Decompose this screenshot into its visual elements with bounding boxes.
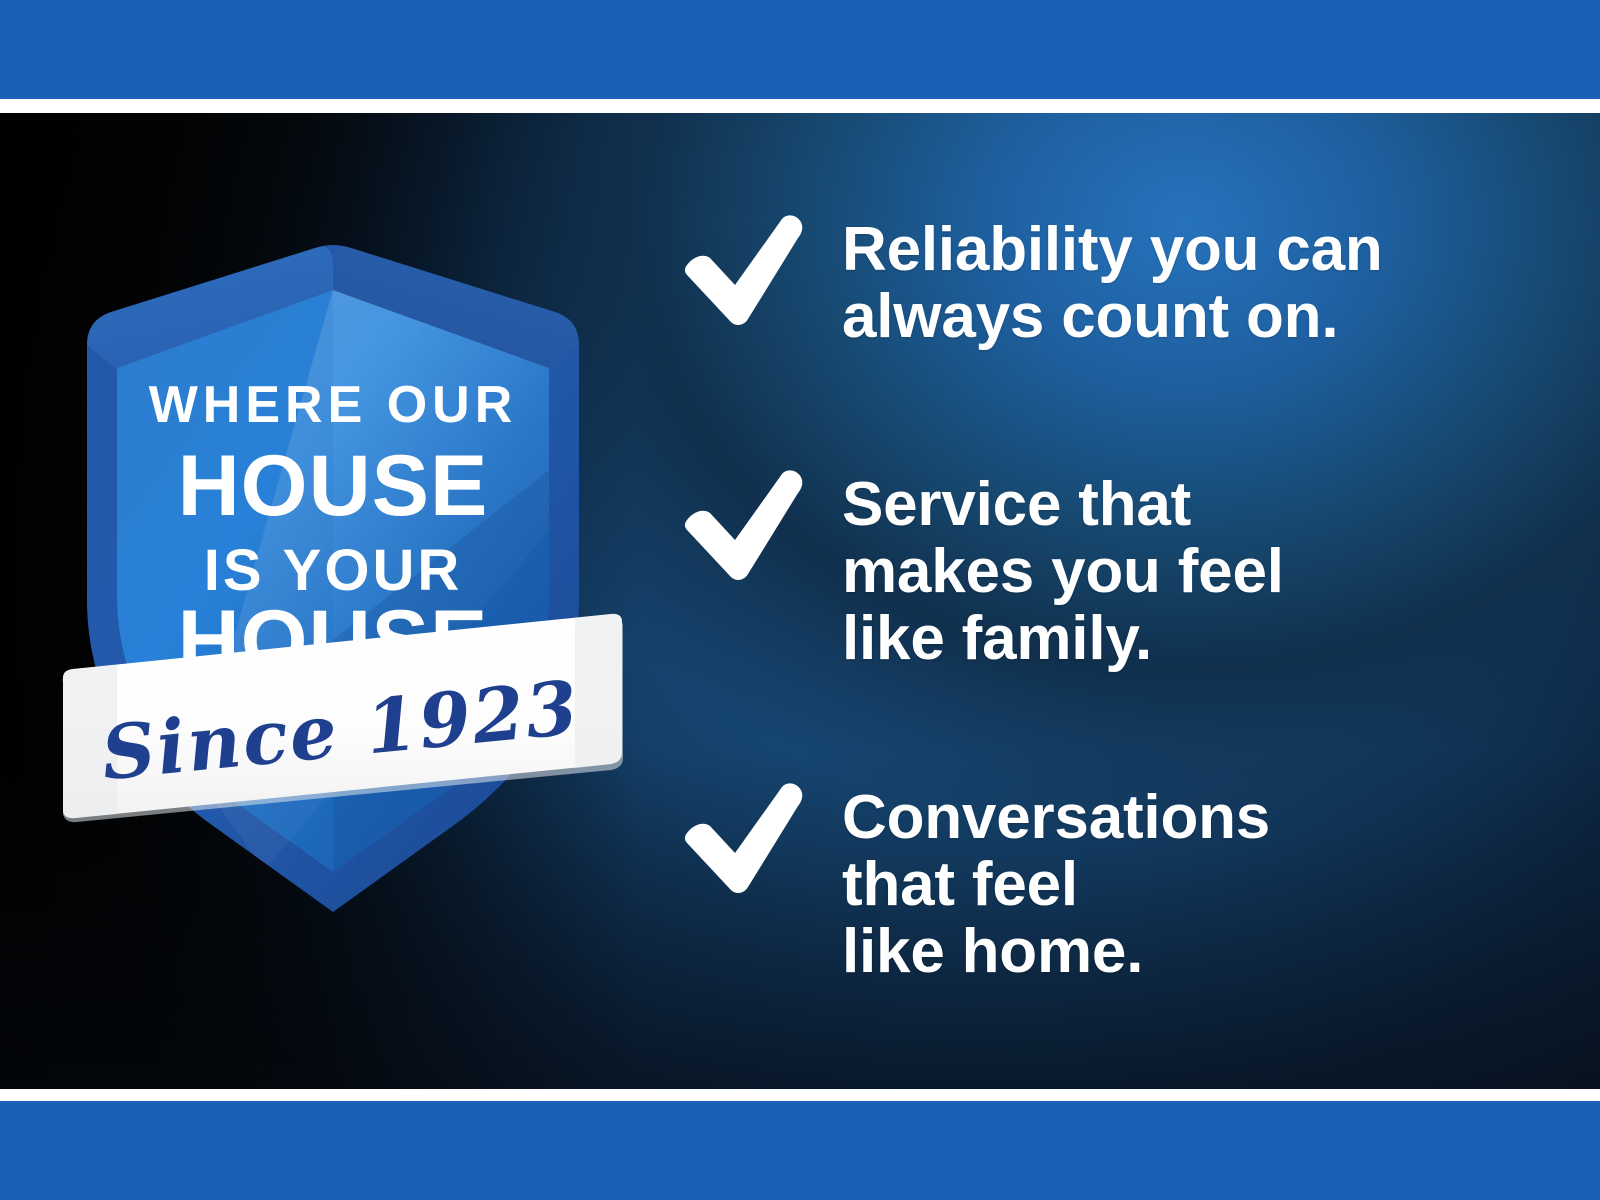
bottom-brand-bar — [0, 1101, 1600, 1200]
list-item: Service that makes you feel like family. — [678, 468, 1284, 673]
shield-line-house-1: HOUSE — [178, 438, 489, 534]
list-item-label: Service that makes you feel like family. — [842, 468, 1284, 673]
shield-line-where-our: WHERE OUR — [149, 376, 518, 434]
checkmark-icon — [678, 213, 806, 331]
list-item-label: Conversations that feel like home. — [842, 781, 1270, 986]
bottom-white-divider — [0, 1089, 1600, 1101]
list-item: Reliability you can always count on. — [678, 213, 1383, 351]
checkmark-icon — [678, 468, 806, 586]
list-item: Conversations that feel like home. — [678, 781, 1270, 986]
list-item-label: Reliability you can always count on. — [842, 213, 1383, 351]
shield-badge: WHERE OUR HOUSE IS YOUR HOUSE Since 1923 — [55, 170, 630, 930]
checkmark-icon — [678, 781, 806, 899]
promo-graphic: WHERE OUR HOUSE IS YOUR HOUSE Since 1923 — [0, 0, 1600, 1200]
top-brand-bar — [0, 0, 1600, 99]
top-white-divider — [0, 99, 1600, 113]
benefits-list: Reliability you can always count on. Ser… — [660, 113, 1540, 1089]
